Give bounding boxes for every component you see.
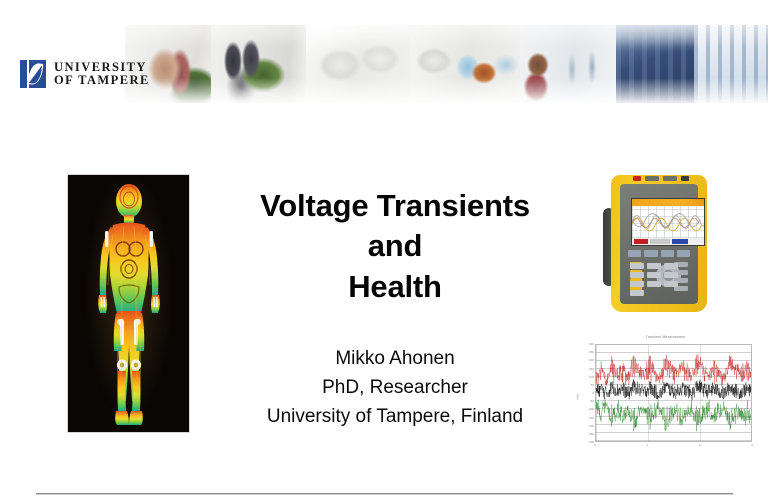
thermal-body-figure [83, 179, 175, 429]
waveform-ytick: -150 [588, 416, 594, 420]
university-of-tampere-emblem-icon [20, 60, 46, 88]
waveform-ytick: 150 [589, 367, 594, 371]
banner-photo-dark-building [616, 25, 694, 103]
title-line-2: and [200, 226, 590, 266]
campus-photo-collage-banner [125, 25, 768, 103]
waveform-xtick: 1 [646, 443, 648, 447]
waveform-series [596, 398, 751, 431]
scope-display-status-bar [632, 238, 704, 245]
waveform-ytick: 200 [589, 358, 594, 362]
waveform-xtick: 2 [699, 443, 701, 447]
presenter-affiliation: University of Tampere, Finland [200, 403, 590, 432]
waveform-chart-title: Transient Measurement [573, 335, 758, 339]
waveform-ytick: -100 [588, 407, 594, 411]
presenter-role: PhD, Researcher [200, 374, 590, 403]
university-logo-line2: OF TAMPERE [54, 74, 150, 87]
scope-display-menu-bar [632, 199, 704, 206]
page-title: Voltage Transients and Health [200, 186, 590, 307]
waveform-ytick: 50 [591, 383, 594, 387]
scope-softkey-row[interactable] [628, 250, 690, 257]
waveform-chart-traces [596, 345, 751, 441]
waveform-ytick: -200 [588, 424, 594, 428]
emblem-leaf [28, 62, 44, 86]
presenter-name: Mikko Ahonen [200, 345, 590, 374]
scope-waveform-traces [632, 206, 704, 238]
waveform-ytick: 250 [589, 350, 594, 354]
presenter-info: Mikko Ahonen PhD, Researcher University … [200, 345, 590, 432]
scope-front-panel [620, 184, 698, 304]
university-logo-line1: UNIVERSITY [54, 61, 150, 74]
banner-photo-strip [125, 25, 768, 103]
scope-waveform-grid [632, 206, 704, 238]
scope-input-connectors [633, 175, 701, 181]
banner-photo-reader [520, 25, 616, 103]
waveform-series [596, 354, 751, 387]
waveform-series [596, 379, 751, 400]
waveform-ytick: -250 [588, 432, 594, 436]
waveform-chart-yaxis: 300250200150100500-50-100-150-200-250-30… [581, 344, 595, 442]
scope-display [631, 198, 705, 246]
presentation-slide: UNIVERSITY OF TAMPERE [0, 0, 768, 504]
fluke-scopemeter-photo [603, 172, 715, 315]
transient-waveform-chart: Transient Measurement Volts 300250200150… [573, 334, 758, 456]
waveform-ytick: -50 [590, 399, 594, 403]
waveform-chart-ylabel: Volts [575, 394, 579, 401]
waveform-ytick: -300 [588, 440, 594, 444]
banner-photo-staircase [211, 25, 306, 103]
university-logo-text: UNIVERSITY OF TAMPERE [54, 61, 150, 88]
waveform-ytick: 100 [589, 375, 594, 379]
waveform-chart-plot [595, 344, 752, 442]
banner-photo-white-building [694, 25, 768, 103]
waveform-ytick: 300 [589, 342, 594, 346]
scope-housing [611, 175, 707, 312]
waveform-xtick: 3 [751, 443, 753, 447]
waveform-xtick: 0 [594, 443, 596, 447]
waveform-ytick: 0 [592, 391, 594, 395]
title-line-1: Voltage Transients [200, 186, 590, 226]
footer-divider [36, 493, 733, 495]
university-logo: UNIVERSITY OF TAMPERE [20, 60, 150, 88]
title-line-3: Health [200, 267, 590, 307]
banner-photo-monitors [306, 25, 410, 103]
scope-keypad[interactable] [630, 263, 688, 296]
waveform-chart-xaxis: 0123 [595, 443, 752, 452]
human-body-thermal-illustration [67, 174, 190, 433]
banner-photo-computer-lab [410, 25, 520, 103]
